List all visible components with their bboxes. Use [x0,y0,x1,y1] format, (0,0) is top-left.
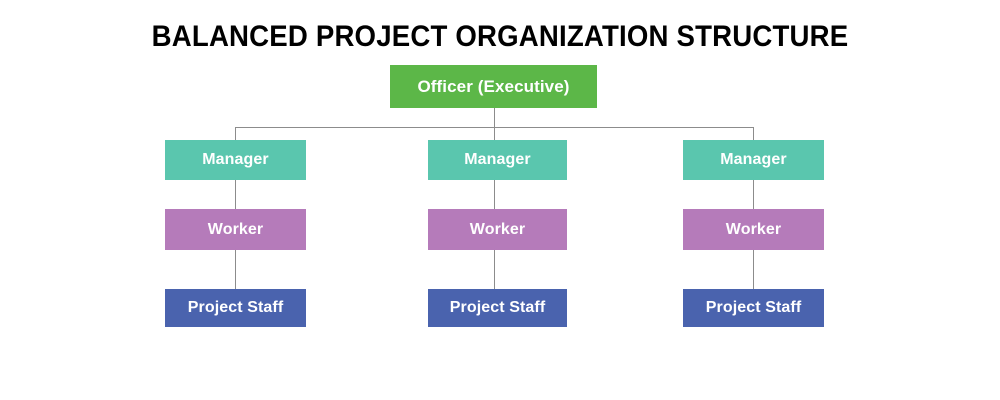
node-worker-2[interactable]: Worker [428,209,567,250]
connector-horizontal-bus [235,127,754,128]
page-title: BALANCED PROJECT ORGANIZATION STRUCTURE [40,20,960,54]
connector-manager-3-to-worker-3 [753,180,754,209]
node-manager-3[interactable]: Manager [683,140,824,180]
connector-root-stem [494,108,495,128]
node-manager-2[interactable]: Manager [428,140,567,180]
connector-root-to-manager-3 [753,127,754,141]
org-chart-canvas: BALANCED PROJECT ORGANIZATION STRUCTURE … [0,0,1000,400]
connector-root-to-manager-2 [494,127,495,141]
connector-root-to-manager-1 [235,127,236,141]
node-manager-1[interactable]: Manager [165,140,306,180]
connector-worker-2-to-staff-2 [494,250,495,289]
node-worker-1[interactable]: Worker [165,209,306,250]
node-project-staff-2[interactable]: Project Staff [428,289,567,327]
node-project-staff-1[interactable]: Project Staff [165,289,306,327]
node-project-staff-3[interactable]: Project Staff [683,289,824,327]
connector-worker-1-to-staff-1 [235,250,236,289]
connector-manager-2-to-worker-2 [494,180,495,209]
connector-worker-3-to-staff-3 [753,250,754,289]
connector-manager-1-to-worker-1 [235,180,236,209]
connector-layer [0,0,1000,400]
node-worker-3[interactable]: Worker [683,209,824,250]
node-officer-executive[interactable]: Officer (Executive) [390,65,597,108]
